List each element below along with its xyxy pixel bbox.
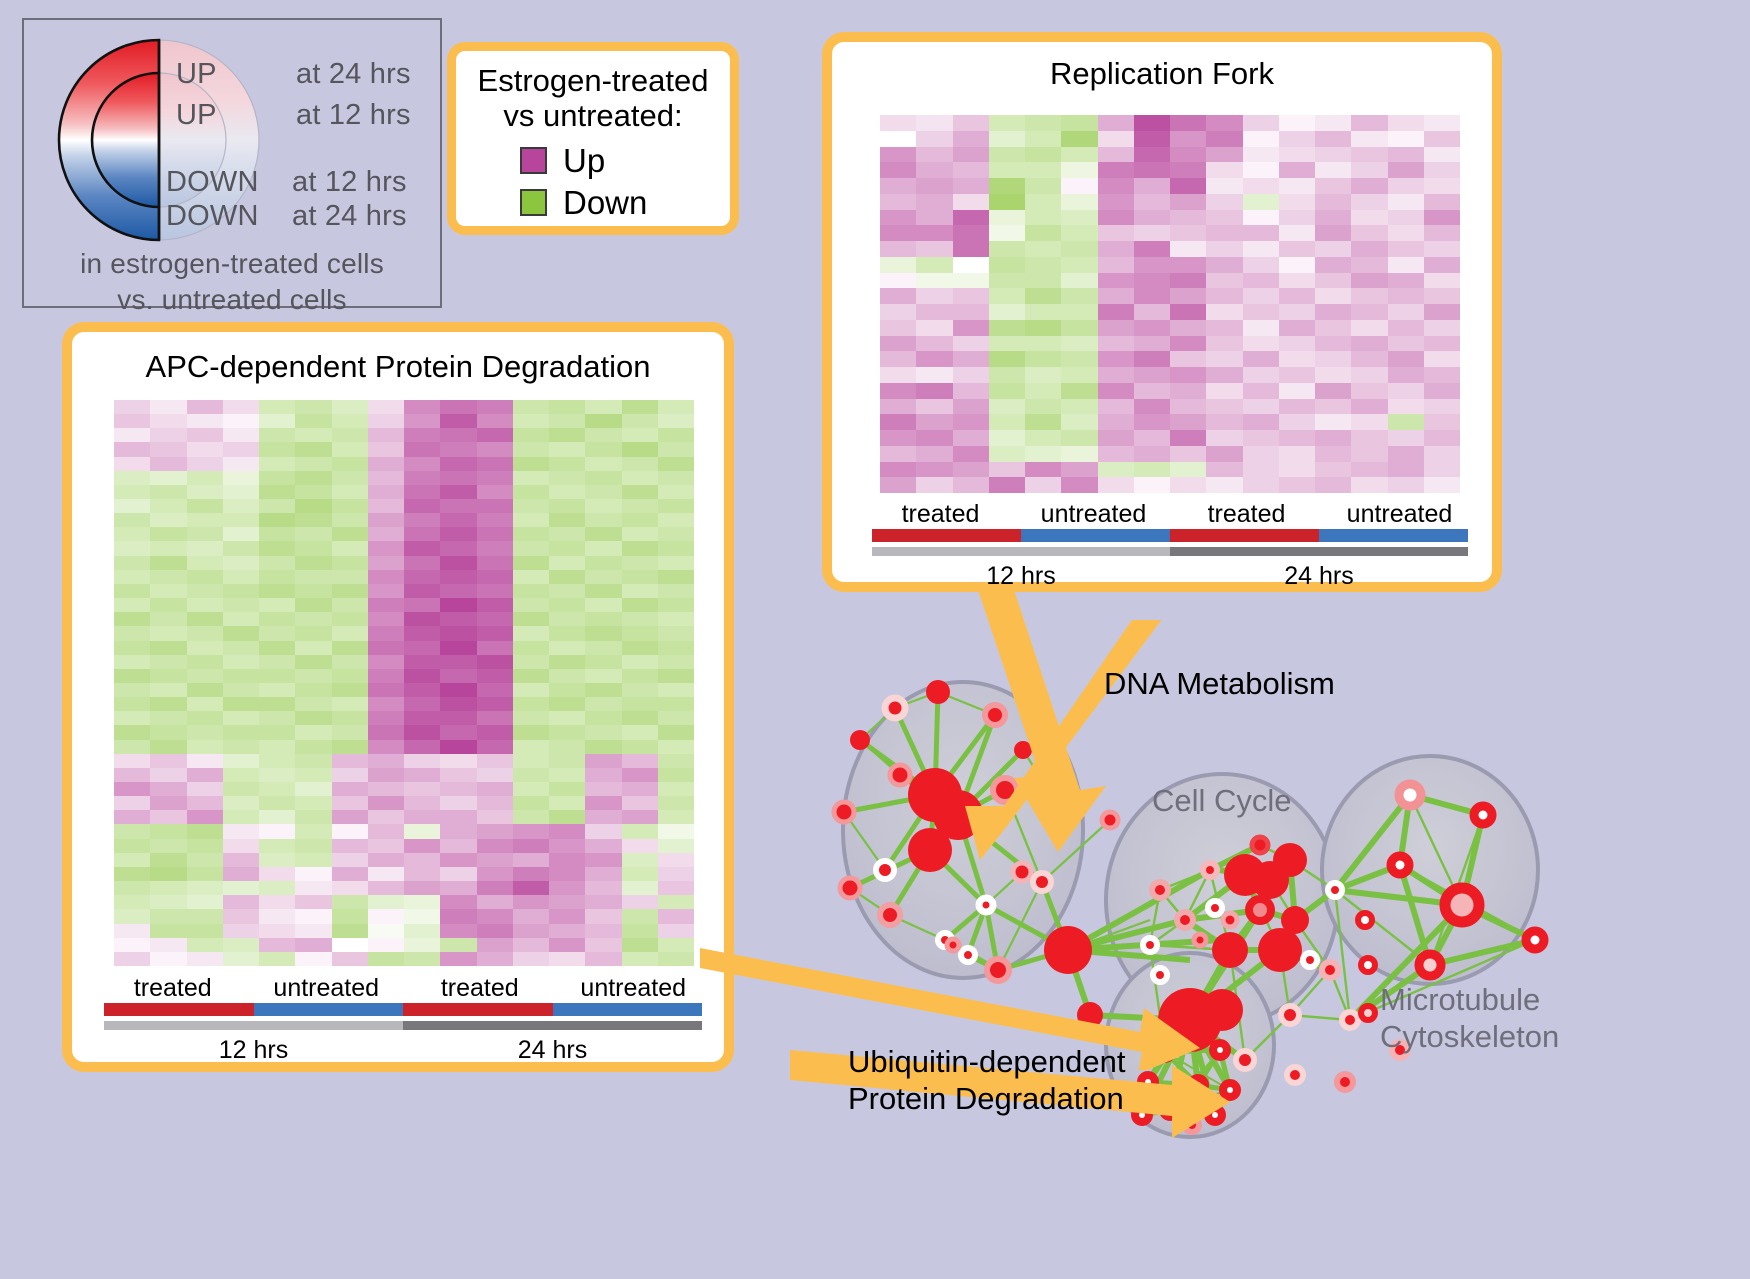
heatmap-cell: [295, 598, 331, 612]
heatmap-cell: [259, 598, 295, 612]
heatmap-cell: [1061, 336, 1097, 352]
heatmap-cell: [1134, 194, 1170, 210]
heatmap-cell: [622, 598, 658, 612]
heatmap-cell: [1351, 241, 1387, 257]
heatmap-cell: [187, 669, 223, 683]
heatmap-cell: [404, 810, 440, 824]
heatmap-cell: [658, 853, 694, 867]
heatmap-cell: [223, 598, 259, 612]
heatmap-cell: [1061, 115, 1097, 131]
heatmap-cell: [1098, 178, 1134, 194]
heatmap-cell: [1424, 336, 1460, 352]
heatmap-cell: [513, 725, 549, 739]
heatmap-cell: [477, 881, 513, 895]
heatmap-cell: [1134, 241, 1170, 257]
heatmap-cell: [223, 740, 259, 754]
heatmap-cell: [1315, 462, 1351, 478]
heatmap-cell: [1206, 147, 1242, 163]
heatmap-cell: [622, 527, 658, 541]
heatmap-cell: [440, 570, 476, 584]
heatmap-cell: [1315, 257, 1351, 273]
heatmap-cell: [150, 428, 186, 442]
heatmap-cell: [1206, 225, 1242, 241]
heatmap-cell: [585, 626, 621, 640]
heatmap-cell: [1424, 462, 1460, 478]
heatmap-cell: [114, 768, 150, 782]
heatmap-cell: [953, 430, 989, 446]
heatmap-cell: [880, 477, 916, 493]
heatmap-cell: [223, 768, 259, 782]
heatmap-cell: [1388, 462, 1424, 478]
heatmap-cell: [1098, 367, 1134, 383]
heatmap-cell: [259, 457, 295, 471]
heatmap-cell: [368, 839, 404, 853]
heatmap-cell: [114, 938, 150, 952]
heatmap-cell: [1134, 414, 1170, 430]
heatmap-cell: [622, 853, 658, 867]
heatmap-cell: [916, 414, 952, 430]
heatmap-cell: [880, 210, 916, 226]
heatmap-cell: [223, 584, 259, 598]
heatmap-cell: [440, 768, 476, 782]
heatmap-cell: [332, 853, 368, 867]
heatmap-cell: [1206, 336, 1242, 352]
heatmap-cell: [1206, 477, 1242, 493]
heatmap-cell: [295, 881, 331, 895]
heatmap-cell: [440, 471, 476, 485]
heatmap-cell: [332, 711, 368, 725]
heatmap-cell: [332, 612, 368, 626]
heatmap-cell: [1279, 399, 1315, 415]
rf-bar-untreated-12: [1021, 529, 1170, 542]
heatmap-cell: [332, 641, 368, 655]
estrogen-legend-title-line1: Estrogen-treated: [456, 64, 730, 99]
heatmap-cell: [332, 881, 368, 895]
heatmap-cell: [187, 938, 223, 952]
heatmap-cell: [549, 938, 585, 952]
heatmap-cell: [585, 867, 621, 881]
rf-group-label-3: untreated: [1323, 500, 1476, 529]
apc-group-label-2: treated: [403, 974, 557, 1003]
heatmap-cell: [1388, 194, 1424, 210]
heatmap-cell: [513, 895, 549, 909]
heatmap-cell: [295, 556, 331, 570]
heatmap-cell: [404, 938, 440, 952]
legend-down-12-label: DOWN: [166, 166, 259, 199]
heatmap-cell: [989, 414, 1025, 430]
heatmap-cell: [658, 612, 694, 626]
heatmap-cell: [1170, 383, 1206, 399]
heatmap-cell: [1388, 288, 1424, 304]
heatmap-cell: [880, 383, 916, 399]
heatmap-cell: [259, 740, 295, 754]
heatmap-cell: [549, 924, 585, 938]
heatmap-cell: [440, 754, 476, 768]
heatmap-cell: [585, 895, 621, 909]
heatmap-cell: [658, 740, 694, 754]
heatmap-cell: [332, 570, 368, 584]
heatmap-cell: [332, 626, 368, 640]
heatmap-cell: [368, 626, 404, 640]
heatmap-cell: [114, 895, 150, 909]
heatmap-cell: [1098, 225, 1134, 241]
heatmap-cell: [585, 768, 621, 782]
heatmap-cell: [114, 428, 150, 442]
heatmap-cell: [513, 570, 549, 584]
up-swatch-icon: [520, 147, 547, 174]
heatmap-cell: [585, 556, 621, 570]
heatmap-cell: [477, 824, 513, 838]
heatmap-cell: [549, 881, 585, 895]
heatmap-cell: [368, 485, 404, 499]
heatmap-cell: [989, 178, 1025, 194]
heatmap-cell: [1315, 367, 1351, 383]
heatmap-cell: [916, 304, 952, 320]
rf-group-labels: treated untreated treated untreated: [864, 500, 1476, 529]
apc-footer: treated untreated treated untreated 12 h…: [96, 974, 710, 1065]
heatmap-cell: [622, 697, 658, 711]
heatmap-cell: [953, 367, 989, 383]
heatmap-cell: [658, 725, 694, 739]
heatmap-cell: [440, 541, 476, 555]
heatmap-cell: [1098, 147, 1134, 163]
heatmap-cell: [1134, 304, 1170, 320]
heatmap-cell: [440, 414, 476, 428]
heatmap-cell: [916, 210, 952, 226]
heatmap-cell: [1279, 320, 1315, 336]
heatmap-cell: [1388, 178, 1424, 194]
heatmap-cell: [1098, 383, 1134, 399]
heatmap-cell: [585, 612, 621, 626]
heatmap-cell: [1206, 462, 1242, 478]
heatmap-cell: [1424, 225, 1460, 241]
heatmap-cell: [223, 626, 259, 640]
heatmap-cell: [1098, 241, 1134, 257]
heatmap-cell: [1279, 257, 1315, 273]
heatmap-cell: [1134, 162, 1170, 178]
heatmap-cell: [259, 400, 295, 414]
heatmap-cell: [513, 881, 549, 895]
apc-bar-untreated-12: [254, 1003, 404, 1016]
heatmap-cell: [1279, 414, 1315, 430]
heatmap-cell: [585, 839, 621, 853]
heatmap-cell: [295, 853, 331, 867]
heatmap-cell: [1025, 462, 1061, 478]
heatmap-cell: [1025, 225, 1061, 241]
heatmap-cell: [187, 768, 223, 782]
heatmap-cell: [1206, 273, 1242, 289]
heatmap-cell: [295, 457, 331, 471]
heatmap-cell: [1243, 367, 1279, 383]
heatmap-cell: [404, 626, 440, 640]
heatmap-cell: [114, 952, 150, 966]
heatmap-cell: [368, 570, 404, 584]
heatmap-cell: [1388, 273, 1424, 289]
heatmap-cell: [989, 399, 1025, 415]
heatmap-cell: [585, 598, 621, 612]
heatmap-cell: [440, 725, 476, 739]
heatmap-cell: [223, 442, 259, 456]
heatmap-cell: [1206, 351, 1242, 367]
heatmap-cell: [404, 768, 440, 782]
heatmap-cell: [622, 655, 658, 669]
heatmap-cell: [1025, 147, 1061, 163]
heatmap-cell: [658, 598, 694, 612]
heatmap-cell: [622, 824, 658, 838]
heatmap-cell: [1351, 147, 1387, 163]
heatmap-cell: [1134, 115, 1170, 131]
heatmap-cell: [1170, 115, 1206, 131]
heatmap-cell: [404, 697, 440, 711]
heatmap-cell: [259, 782, 295, 796]
heatmap-cell: [150, 598, 186, 612]
heatmap-cell: [223, 641, 259, 655]
heatmap-cell: [1279, 304, 1315, 320]
heatmap-cell: [404, 485, 440, 499]
heatmap-cell: [295, 909, 331, 923]
heatmap-cell: [1134, 178, 1170, 194]
heatmap-cell: [1388, 115, 1424, 131]
heatmap-cell: [1424, 241, 1460, 257]
heatmap-cell: [1170, 210, 1206, 226]
heatmap-cell: [295, 754, 331, 768]
heatmap-cell: [622, 570, 658, 584]
heatmap-cell: [295, 711, 331, 725]
heatmap-cell: [658, 824, 694, 838]
heatmap-cell: [1388, 304, 1424, 320]
heatmap-cell: [1134, 399, 1170, 415]
heatmap-cell: [259, 754, 295, 768]
heatmap-cell: [295, 612, 331, 626]
heatmap-cell: [114, 527, 150, 541]
heatmap-cell: [295, 513, 331, 527]
heatmap-cell: [223, 952, 259, 966]
heatmap-cell: [1170, 257, 1206, 273]
heatmap-cell: [513, 598, 549, 612]
heatmap-cell: [187, 853, 223, 867]
heatmap-cell: [622, 584, 658, 598]
heatmap-cell: [549, 556, 585, 570]
heatmap-cell: [1351, 288, 1387, 304]
heatmap-cell: [1388, 336, 1424, 352]
heatmap-cell: [404, 541, 440, 555]
heatmap-cell: [953, 115, 989, 131]
heatmap-cell: [1315, 399, 1351, 415]
heatmap-cell: [187, 895, 223, 909]
replication-fork-footer: treated untreated treated untreated 12 h…: [864, 500, 1476, 591]
legend-at-12-label-b: at 12 hrs: [292, 166, 407, 199]
heatmap-cell: [1025, 351, 1061, 367]
heatmap-cell: [332, 867, 368, 881]
heatmap-cell: [187, 499, 223, 513]
heatmap-cell: [1061, 210, 1097, 226]
heatmap-cell: [187, 541, 223, 555]
figure-canvas: UP at 24 hrs UP at 12 hrs DOWN at 12 hrs…: [0, 0, 1750, 1279]
heatmap-cell: [513, 711, 549, 725]
heatmap-cell: [1424, 288, 1460, 304]
heatmap-cell: [1025, 241, 1061, 257]
heatmap-cell: [440, 952, 476, 966]
heatmap-cell: [513, 782, 549, 796]
heatmap-cell: [549, 584, 585, 598]
heatmap-cell: [622, 924, 658, 938]
heatmap-cell: [513, 768, 549, 782]
heatmap-cell: [1170, 304, 1206, 320]
heatmap-cell: [916, 383, 952, 399]
heatmap-cell: [658, 768, 694, 782]
heatmap-cell: [658, 541, 694, 555]
heatmap-cell: [440, 824, 476, 838]
heatmap-cell: [989, 131, 1025, 147]
heatmap-cell: [404, 442, 440, 456]
heatmap-cell: [440, 598, 476, 612]
apc-bar-treated-24: [403, 1003, 553, 1016]
ubiquitin-label-line2: Protein Degradation: [848, 1081, 1126, 1118]
heatmap-cell: [187, 867, 223, 881]
heatmap-cell: [404, 556, 440, 570]
heatmap-cell: [658, 471, 694, 485]
heatmap-cell: [440, 796, 476, 810]
heatmap-cell: [1170, 241, 1206, 257]
heatmap-cell: [477, 499, 513, 513]
heatmap-cell: [989, 194, 1025, 210]
heatmap-cell: [1351, 336, 1387, 352]
heatmap-cell: [295, 924, 331, 938]
heatmap-cell: [622, 626, 658, 640]
heatmap-cell: [223, 612, 259, 626]
heatmap-cell: [1279, 351, 1315, 367]
heatmap-cell: [1134, 288, 1170, 304]
legend-at-12-label-a: at 12 hrs: [296, 99, 411, 132]
heatmap-cell: [989, 367, 1025, 383]
heatmap-cell: [404, 824, 440, 838]
heatmap-cell: [1424, 383, 1460, 399]
heatmap-cell: [1206, 241, 1242, 257]
heatmap-cell: [1388, 414, 1424, 430]
heatmap-cell: [440, 655, 476, 669]
heatmap-cell: [513, 513, 549, 527]
heatmap-cell: [187, 839, 223, 853]
heatmap-cell: [114, 810, 150, 824]
heatmap-cell: [114, 457, 150, 471]
heatmap-cell: [658, 655, 694, 669]
heatmap-cell: [295, 938, 331, 952]
heatmap-cell: [989, 225, 1025, 241]
heatmap-cell: [259, 485, 295, 499]
heatmap-cell: [150, 754, 186, 768]
heatmap-cell: [223, 541, 259, 555]
heatmap-cell: [150, 499, 186, 513]
legend-row-down: Down: [520, 181, 730, 223]
heatmap-cell: [1351, 383, 1387, 399]
heatmap-cell: [187, 442, 223, 456]
heatmap-cell: [1351, 304, 1387, 320]
heatmap-cell: [187, 612, 223, 626]
heatmap-cell: [549, 853, 585, 867]
heatmap-cell: [150, 485, 186, 499]
heatmap-cell: [259, 442, 295, 456]
heatmap-cell: [585, 541, 621, 555]
heatmap-cell: [513, 442, 549, 456]
heatmap-cell: [513, 853, 549, 867]
heatmap-cell: [513, 655, 549, 669]
heatmap-cell: [440, 938, 476, 952]
heatmap-cell: [916, 241, 952, 257]
heatmap-cell: [658, 570, 694, 584]
heatmap-cell: [404, 570, 440, 584]
heatmap-cell: [513, 952, 549, 966]
heatmap-cell: [440, 867, 476, 881]
heatmap-cell: [477, 527, 513, 541]
heatmap-cell: [187, 641, 223, 655]
heatmap-cell: [1170, 446, 1206, 462]
heatmap-cell: [1279, 462, 1315, 478]
heatmap-cell: [150, 442, 186, 456]
heatmap-cell: [332, 839, 368, 853]
heatmap-cell: [1134, 225, 1170, 241]
heatmap-cell: [332, 400, 368, 414]
heatmap-cell: [1025, 383, 1061, 399]
heatmap-cell: [259, 428, 295, 442]
heatmap-cell: [585, 400, 621, 414]
heatmap-cell: [440, 499, 476, 513]
heatmap-cell: [622, 725, 658, 739]
heatmap-cell: [622, 810, 658, 824]
heatmap-cell: [1134, 446, 1170, 462]
heatmap-cell: [114, 754, 150, 768]
heatmap-cell: [477, 796, 513, 810]
heatmap-cell: [477, 626, 513, 640]
heatmap-cell: [1061, 273, 1097, 289]
heatmap-cell: [332, 513, 368, 527]
heatmap-cell: [1098, 257, 1134, 273]
heatmap-cell: [953, 147, 989, 163]
heatmap-cell: [1279, 210, 1315, 226]
heatmap-cell: [1025, 399, 1061, 415]
heatmap-cell: [332, 669, 368, 683]
heatmap-cell: [223, 711, 259, 725]
heatmap-cell: [916, 115, 952, 131]
heatmap-cell: [1388, 446, 1424, 462]
heatmap-cell: [259, 824, 295, 838]
heatmap-cell: [223, 471, 259, 485]
heatmap-cell: [150, 457, 186, 471]
heatmap-cell: [622, 711, 658, 725]
heatmap-cell: [332, 598, 368, 612]
heatmap-cell: [1243, 351, 1279, 367]
rf-time-bars: [864, 547, 1476, 556]
heatmap-cell: [1315, 288, 1351, 304]
heatmap-cell: [259, 867, 295, 881]
heatmap-cell: [1098, 430, 1134, 446]
heatmap-cell: [404, 471, 440, 485]
heatmap-cell: [404, 527, 440, 541]
heatmap-cell: [916, 147, 952, 163]
heatmap-cell: [114, 824, 150, 838]
heatmap-cell: [259, 725, 295, 739]
heatmap-cell: [295, 485, 331, 499]
heatmap-cell: [1315, 273, 1351, 289]
heatmap-cell: [1351, 273, 1387, 289]
heatmap-cell: [1315, 446, 1351, 462]
heatmap-cell: [259, 697, 295, 711]
heatmap-cell: [187, 584, 223, 598]
heatmap-cell: [658, 938, 694, 952]
heatmap-cell: [1351, 131, 1387, 147]
heatmap-cell: [622, 485, 658, 499]
heatmap-cell: [989, 162, 1025, 178]
heatmap-cell: [1098, 115, 1134, 131]
